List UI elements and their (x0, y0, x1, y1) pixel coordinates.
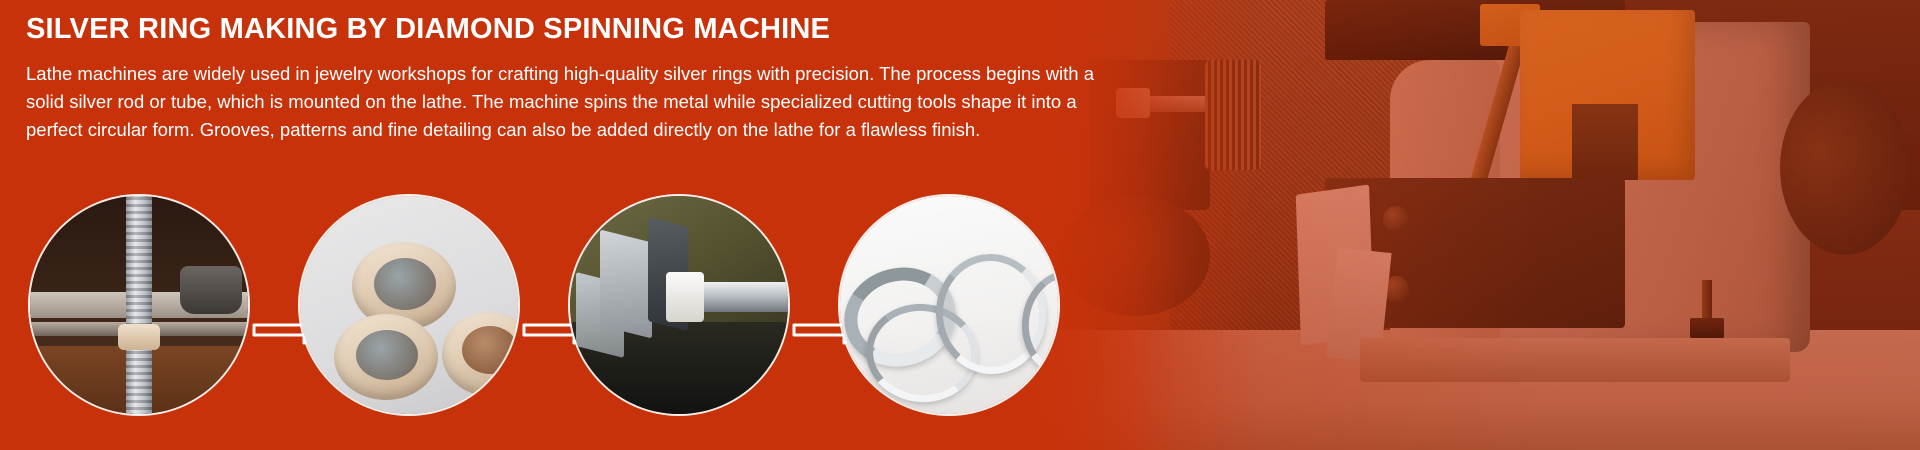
ring-workpiece (666, 272, 704, 322)
process-steps (30, 196, 1210, 416)
banner-text-block: SILVER RING MAKING BY DIAMOND SPINNING M… (26, 14, 1116, 145)
silver-rod (126, 196, 152, 414)
promo-banner: SILVER RING MAKING BY DIAMOND SPINNING M… (0, 0, 1920, 450)
photo-content (300, 196, 518, 414)
page-title: SILVER RING MAKING BY DIAMOND SPINNING M… (26, 14, 1116, 46)
photo-content (570, 196, 788, 414)
ring-blank-on-rod (118, 324, 160, 350)
step-4-finished-silver-rings-photo (840, 196, 1058, 414)
step-3-cutting-tool-shaping-photo (570, 196, 788, 414)
workshop-pot (180, 266, 242, 314)
photo-content (30, 196, 248, 414)
banner-description: Lathe machines are widely used in jewelr… (26, 60, 1111, 145)
ring-bore (356, 330, 418, 380)
ring-bore (462, 326, 518, 374)
photo-content (840, 196, 1058, 414)
ring-bore (374, 258, 436, 310)
step-2-rough-ring-blanks-photo (300, 196, 518, 414)
step-1-silver-rod-on-lathe-photo (30, 196, 248, 414)
cutting-tool (600, 230, 652, 339)
